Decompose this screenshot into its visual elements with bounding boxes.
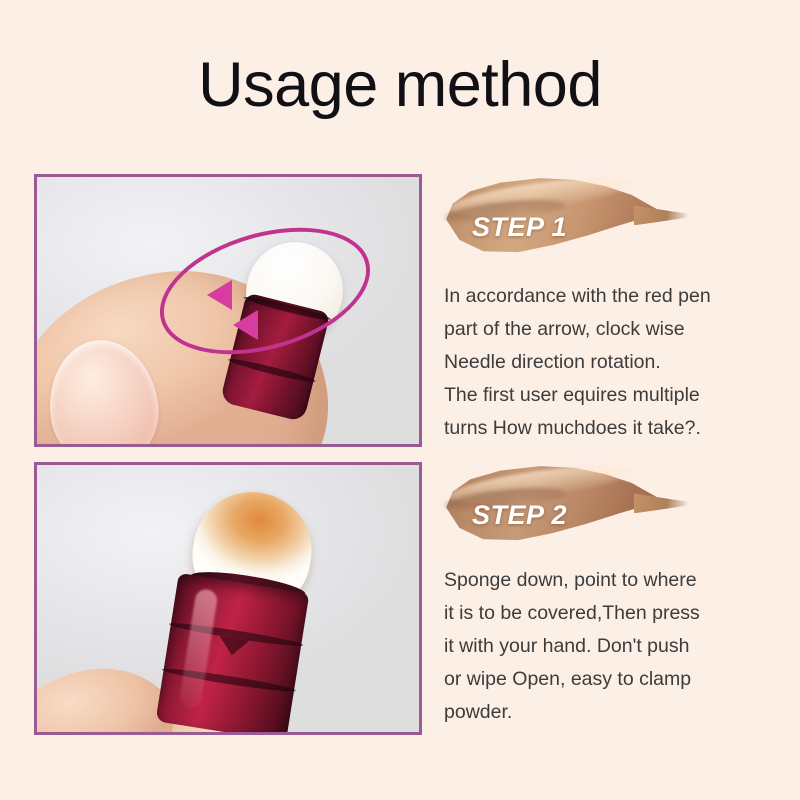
rotation-arrow-icon xyxy=(233,310,258,340)
page-title: Usage method xyxy=(0,47,800,123)
thumbnail-nail xyxy=(42,334,165,444)
step-1-photo-panel xyxy=(34,174,422,447)
step-1-label: STEP 1 xyxy=(472,212,567,243)
step-2-photo-stage xyxy=(37,465,419,732)
powder-applicator xyxy=(129,478,352,732)
step-2-swatch: STEP 2 xyxy=(444,460,662,548)
swatch-tip xyxy=(634,493,688,513)
step-1-block: STEP 1 In accordance with the red pen pa… xyxy=(444,172,774,445)
step-2-description: Sponge down, point to where it is to be … xyxy=(444,564,774,729)
step-1-swatch: STEP 1 xyxy=(444,172,662,260)
swatch-tip xyxy=(634,205,688,225)
step-2-block: STEP 2 Sponge down, point to where it is… xyxy=(444,460,774,729)
step-1-photo-stage xyxy=(37,177,419,444)
rotation-arrow-icon xyxy=(207,280,232,310)
step-1-description: In accordance with the red pen part of t… xyxy=(444,280,774,445)
step-2-photo-panel xyxy=(34,462,422,735)
step-2-label: STEP 2 xyxy=(472,500,567,531)
